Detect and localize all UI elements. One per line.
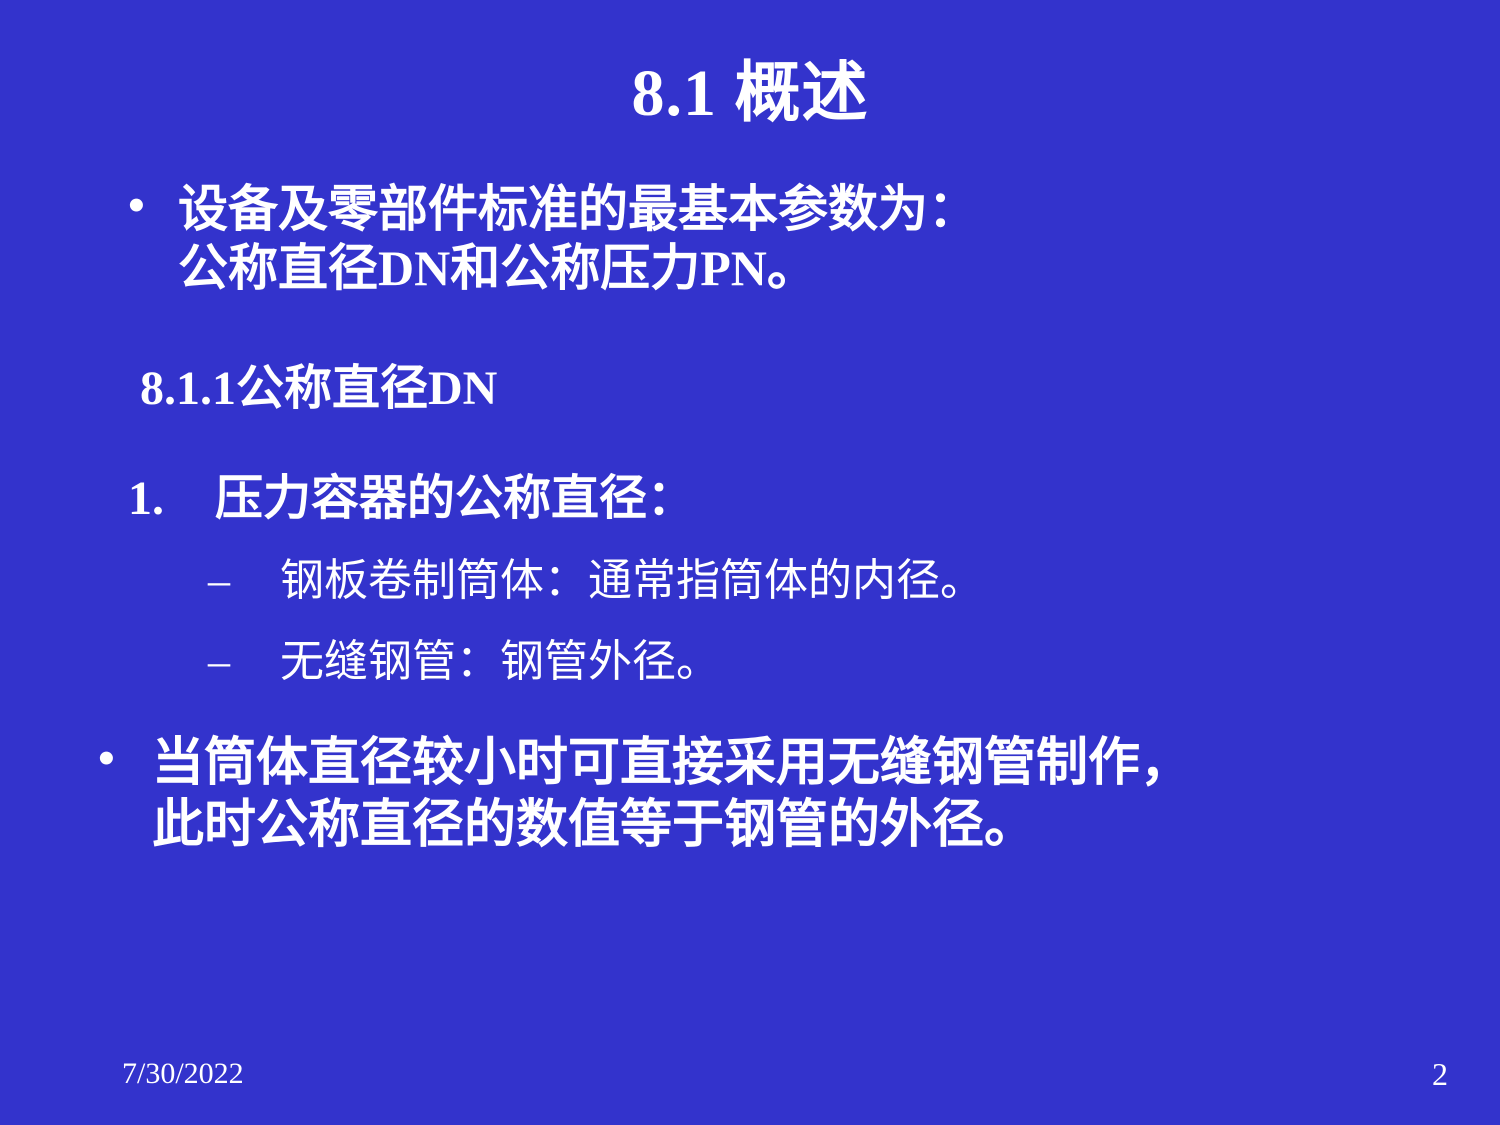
bullet-item-1: • 设备及零部件标准的最基本参数为： 公称直径DN和公称压力PN。 <box>120 180 1458 298</box>
numbered-item-1-marker: 1. <box>128 470 164 528</box>
sub-item-2: – 无缝钢管：钢管外径。 <box>200 634 1500 689</box>
bullet-item-1-line-1: 设备及零部件标准的最基本参数为： <box>178 180 1458 239</box>
bullet-item-2-line-1: 当筒体直径较小时可直接采用无缝钢管制作， <box>152 733 1432 794</box>
presentation-slide: 8.1 概述 • 设备及零部件标准的最基本参数为： 公称直径DN和公称压力PN。… <box>0 0 1500 1125</box>
spacer-4 <box>0 608 1500 634</box>
sub-item-1-text: 钢板卷制筒体：通常指筒体的内径。 <box>280 556 984 605</box>
bullet-item-1-line-2: 公称直径DN和公称压力PN。 <box>178 239 1458 298</box>
sub-item-1: – 钢板卷制筒体：通常指筒体的内径。 <box>200 553 1500 608</box>
section-heading-811: 8.1.1公称直径DN <box>140 360 1500 418</box>
sub-item-2-text: 无缝钢管：钢管外径。 <box>280 637 720 686</box>
spacer-5 <box>0 689 1500 733</box>
bullet-glyph-icon-2: • <box>98 731 115 788</box>
dash-glyph-icon: – <box>208 553 230 608</box>
dash-glyph-icon-2: – <box>208 634 230 689</box>
spacer-2 <box>0 418 1500 470</box>
numbered-item-1: 1. 压力容器的公称直径： <box>120 470 1500 528</box>
bullet-item-2: • 当筒体直径较小时可直接采用无缝钢管制作， 此时公称直径的数值等于钢管的外径。 <box>90 733 1432 856</box>
slide-date: 7/30/2022 <box>122 1057 244 1091</box>
bullet-glyph-icon: • <box>128 178 145 235</box>
bullet-item-2-line-2: 此时公称直径的数值等于钢管的外径。 <box>152 795 1432 856</box>
slide-body: • 设备及零部件标准的最基本参数为： 公称直径DN和公称压力PN。 8.1.1公… <box>0 180 1500 856</box>
spacer-3 <box>0 527 1500 553</box>
numbered-item-1-text: 压力容器的公称直径： <box>215 472 695 525</box>
spacer-1 <box>0 298 1500 360</box>
slide-page-number: 2 <box>1432 1056 1448 1093</box>
slide-title: 8.1 概述 <box>0 58 1500 131</box>
